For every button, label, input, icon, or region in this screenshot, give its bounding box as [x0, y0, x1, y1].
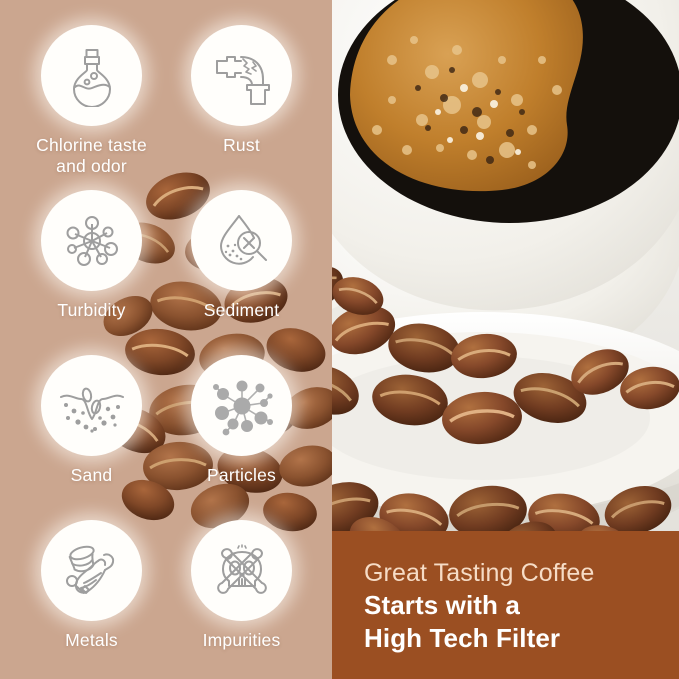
- feature-impurities[interactable]: Impurities: [164, 520, 319, 651]
- feature-label: Metals: [14, 630, 169, 651]
- promo-banner: Great Tasting Coffee Starts with a High …: [332, 531, 679, 679]
- molecule-cluster-icon: [61, 210, 123, 272]
- contaminant-icon-grid: Chlorine taste and odor: [0, 0, 332, 679]
- feature-icon-circle: [191, 25, 292, 126]
- sand-grains-icon: [59, 373, 125, 439]
- feature-icon-circle: [41, 190, 142, 291]
- feature-label: Particles: [164, 465, 319, 486]
- feature-metals[interactable]: Metals: [14, 520, 169, 651]
- skull-crossbones-icon: [210, 539, 274, 603]
- feature-particles[interactable]: Particles: [164, 355, 319, 486]
- particles-icon: [209, 373, 275, 439]
- feature-label: Chlorine taste and odor: [14, 135, 169, 177]
- feature-label: Turbidity: [14, 300, 169, 321]
- feature-label: Sand: [14, 465, 169, 486]
- metal-cans-icon: [60, 539, 124, 603]
- banner-line-2: Starts with a: [364, 589, 679, 622]
- feature-rust[interactable]: Rust: [164, 25, 319, 156]
- feature-turbidity[interactable]: Turbidity: [14, 190, 169, 321]
- water-drop-magnifier-icon: [211, 210, 273, 272]
- feature-icon-circle: [191, 190, 292, 291]
- feature-label: Sediment: [164, 300, 319, 321]
- feature-icon-circle: [191, 355, 292, 456]
- banner-line-1: Great Tasting Coffee: [364, 557, 679, 589]
- product-infographic: Chlorine taste and odor: [0, 0, 679, 679]
- feature-icon-circle: [41, 520, 142, 621]
- feature-icon-circle: [41, 355, 142, 456]
- banner-line-3: High Tech Filter: [364, 622, 679, 655]
- rusty-pipe-icon: [211, 45, 273, 107]
- feature-label: Impurities: [164, 630, 319, 651]
- feature-icon-circle: [41, 25, 142, 126]
- feature-sediment[interactable]: Sediment: [164, 190, 319, 321]
- feature-label: Rust: [164, 135, 319, 156]
- feature-sand[interactable]: Sand: [14, 355, 169, 486]
- feature-icon-circle: [191, 520, 292, 621]
- flask-icon: [61, 45, 123, 107]
- feature-chlorine-taste-and-odor[interactable]: Chlorine taste and odor: [14, 25, 169, 177]
